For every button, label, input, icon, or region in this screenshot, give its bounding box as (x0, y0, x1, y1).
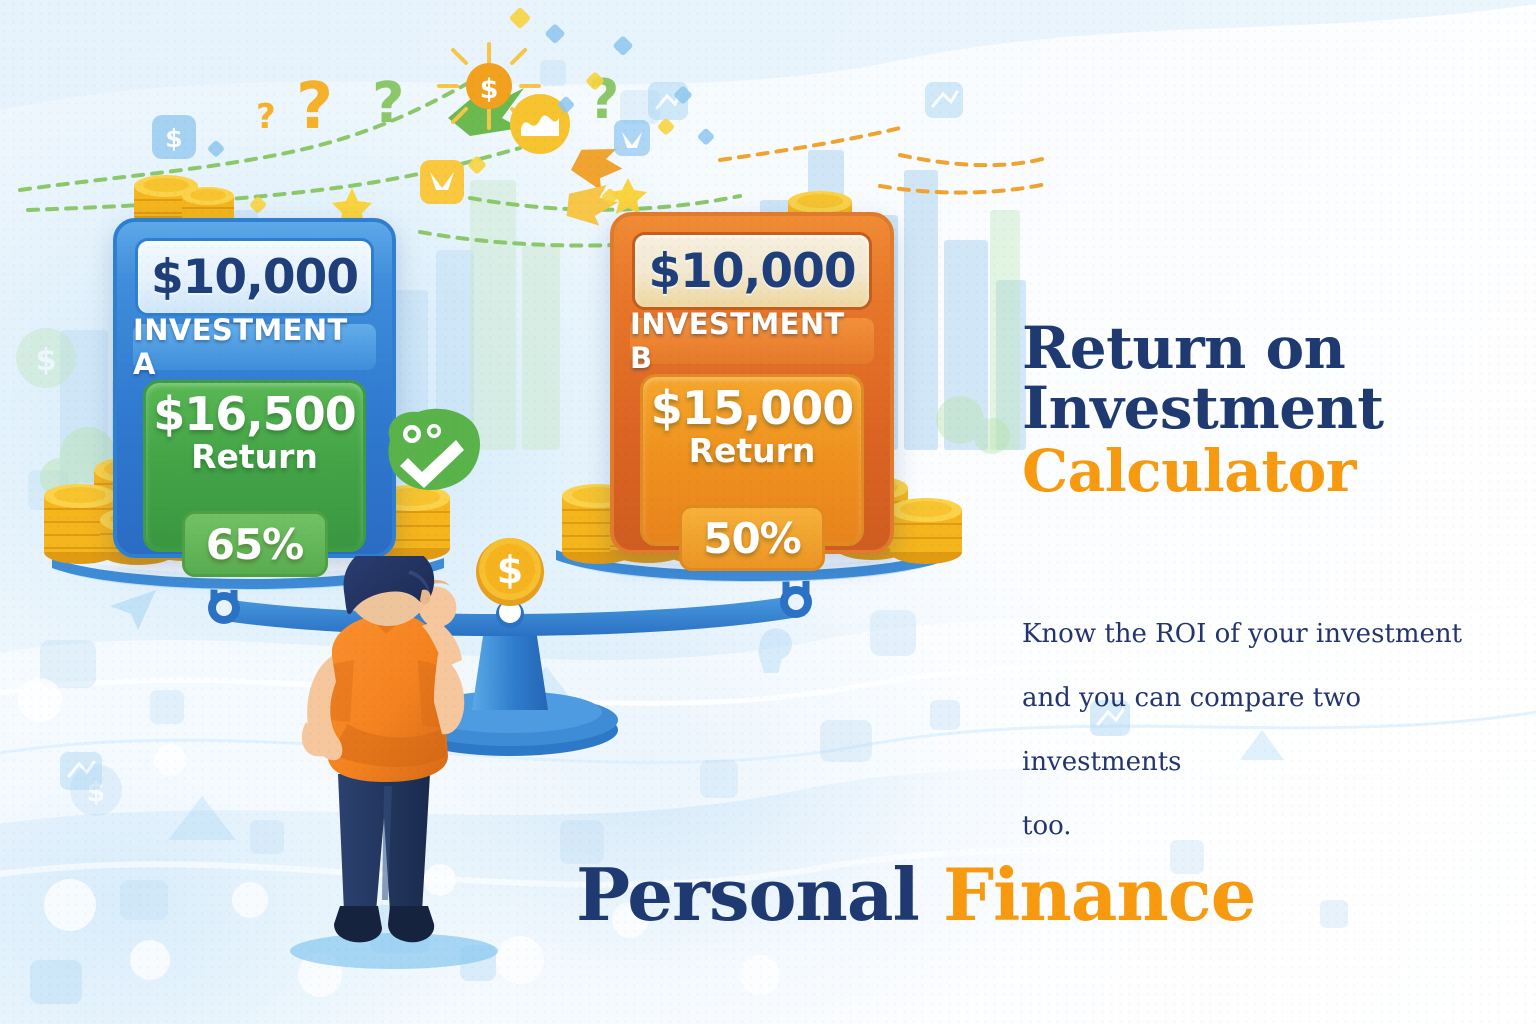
subtitle-line-3: too. (1022, 794, 1502, 858)
subtitle-block: Know the ROI of your investment and you … (1022, 602, 1502, 858)
thinking-person-illustration (270, 556, 510, 976)
question-mark-icon: ? (296, 70, 333, 144)
headline-line-1: Return on (1022, 318, 1492, 378)
investment-card-b[interactable]: $10,000 INVESTMENT B $15,000 Return 50% (610, 212, 894, 554)
checkmark-tile-icon-blue (614, 120, 650, 156)
brand-word-2: Finance (943, 852, 1255, 937)
investment-a-amount-box: $10,000 (135, 238, 374, 316)
investment-a-label-band: INVESTMENT A (133, 324, 376, 370)
investment-a-label: INVESTMENT A (133, 313, 376, 381)
investment-b-amount-box: $10,000 (632, 232, 872, 310)
investment-a-return-amount: $16,500 (146, 387, 363, 441)
investment-b-return-box: $15,000 Return 50% (640, 374, 864, 546)
question-mark-icon: ? (372, 71, 404, 136)
svg-text:$: $ (36, 343, 57, 378)
investment-a-return-word: Return (146, 437, 363, 476)
brand-title: Personal Finance (576, 852, 1255, 937)
headline-block: Return on Investment Calculator (1022, 318, 1492, 504)
hero-canvas: $ $ $ (0, 0, 1536, 1024)
headline-line-2: Investment (1022, 378, 1492, 438)
investment-b-label: INVESTMENT B (630, 307, 874, 375)
checkmark-tile-icon (420, 160, 464, 204)
investment-b-percent: 50% (703, 514, 801, 563)
brand-word-1: Personal (576, 852, 919, 937)
question-mark-icon: ? (256, 97, 276, 137)
green-check-badge-icon (378, 404, 488, 500)
investment-b-percent-chip: 50% (679, 505, 825, 571)
investment-b-label-band: INVESTMENT B (630, 318, 874, 364)
investment-b-return-word: Return (643, 431, 861, 470)
investment-a-return-box: $16,500 Return 65% (143, 380, 366, 552)
headline-line-3-accent: Calculator (1022, 438, 1492, 504)
svg-text:$: $ (480, 74, 499, 105)
subtitle-line-1: Know the ROI of your investment (1022, 602, 1502, 666)
investment-card-a[interactable]: $10,000 INVESTMENT A $16,500 Return 65% (113, 218, 396, 558)
investment-a-amount: $10,000 (151, 250, 358, 305)
investment-b-amount: $10,000 (648, 244, 855, 299)
subtitle-line-2: and you can compare two investments (1022, 666, 1502, 794)
investment-b-return-amount: $15,000 (643, 381, 861, 435)
